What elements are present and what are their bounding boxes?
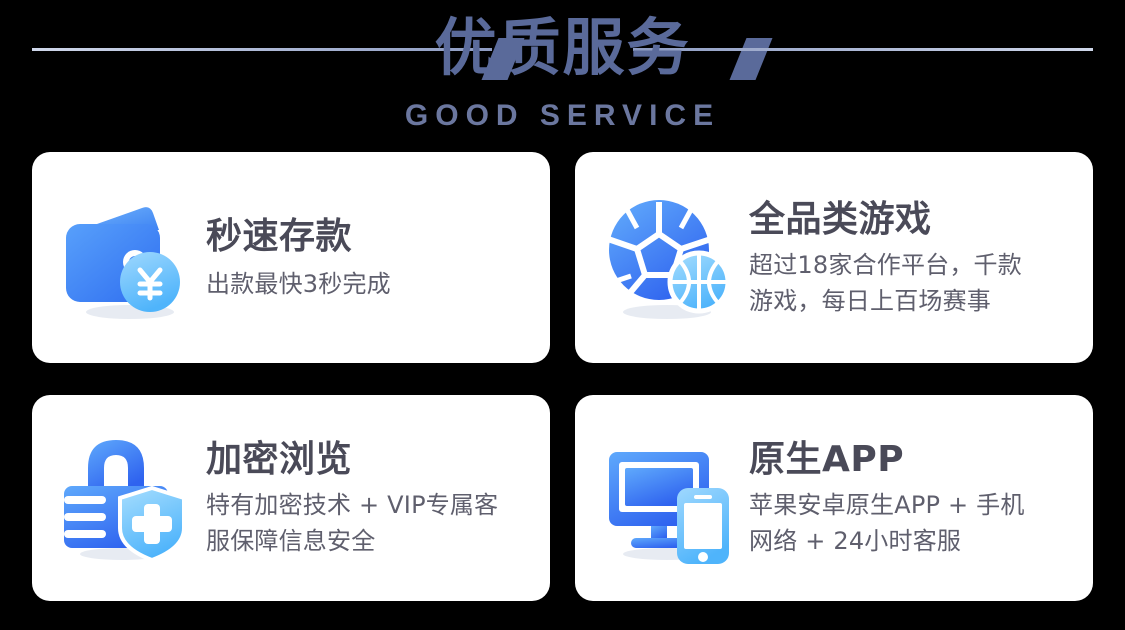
feature-card-text: 秒速存款 出款最快3秒完成 [194,214,532,302]
monitor-phone-icon [601,430,737,566]
feature-card-grid: 秒速存款 出款最快3秒完成 [32,152,1093,602]
card-title: 加密浏览 [206,437,532,483]
feature-card-native-app[interactable]: 原生APP 苹果安卓原生APP + 手机 网络 + 24小时客服 [575,395,1093,601]
card-subtitle: 特有加密技术 + VIP专属客 服保障信息安全 [206,487,532,559]
card-subtitle-line: 服保障信息安全 [206,523,532,559]
card-subtitle-line: 游戏，每日上百场赛事 [749,283,1075,319]
good-service-panel: 优质服务 GOOD SERVICE [0,0,1125,630]
feature-card-text: 全品类游戏 超过18家合作平台，千款 游戏，每日上百场赛事 [737,197,1075,319]
section-header: 优质服务 GOOD SERVICE [0,0,1125,146]
card-title: 全品类游戏 [749,197,1075,243]
card-subtitle-line: 出款最快3秒完成 [206,266,532,302]
feature-card-text: 加密浏览 特有加密技术 + VIP专属客 服保障信息安全 [194,437,532,559]
card-subtitle: 出款最快3秒完成 [206,266,532,302]
soccer-basketball-icon [601,190,737,326]
card-title: 原生APP [749,437,1075,483]
feature-card-encryption[interactable]: 加密浏览 特有加密技术 + VIP专属客 服保障信息安全 [32,395,550,601]
card-title: 秒速存款 [206,214,532,260]
wallet-yen-icon [58,190,194,326]
page-subtitle: GOOD SERVICE [0,98,1125,134]
card-subtitle-line: 超过18家合作平台，千款 [749,247,1075,283]
feature-card-games[interactable]: 全品类游戏 超过18家合作平台，千款 游戏，每日上百场赛事 [575,152,1093,363]
card-subtitle: 苹果安卓原生APP + 手机 网络 + 24小时客服 [749,487,1075,559]
card-subtitle: 超过18家合作平台，千款 游戏，每日上百场赛事 [749,247,1075,319]
card-subtitle-line: 特有加密技术 + VIP专属客 [206,487,532,523]
feature-card-text: 原生APP 苹果安卓原生APP + 手机 网络 + 24小时客服 [737,437,1075,559]
card-subtitle-line: 苹果安卓原生APP + 手机 [749,487,1075,523]
page-title: 优质服务 [0,8,1125,88]
card-subtitle-line: 网络 + 24小时客服 [749,523,1075,559]
feature-card-deposit[interactable]: 秒速存款 出款最快3秒完成 [32,152,550,363]
lock-shield-icon [58,430,194,566]
